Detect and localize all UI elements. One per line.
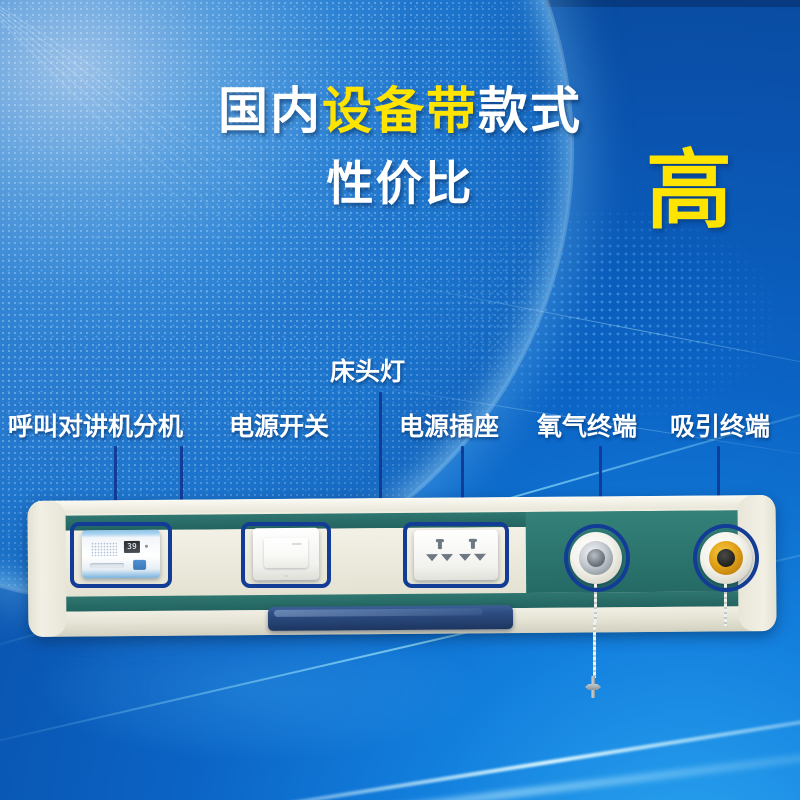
- halftone-map-dots-secondary: [120, 330, 450, 480]
- highlight-circle-suction: [693, 524, 759, 592]
- pull-cord-fitting[interactable]: [585, 676, 601, 698]
- highlight-circle-oxygen: [564, 524, 630, 592]
- callout-oxygen-terminal: 氧气终端: [537, 415, 637, 440]
- headline-accent-character: 高: [646, 148, 732, 234]
- lamp-diffuser-highlight: [274, 608, 483, 617]
- callout-call-intercom-extension: 呼叫对讲机分机: [8, 415, 183, 440]
- highlight-box-power-socket: [403, 522, 509, 588]
- light-rays: [0, 0, 380, 310]
- highlight-box-power-switch: [241, 522, 331, 588]
- highlight-box-intercom: [70, 522, 172, 588]
- callout-power-socket: 电源插座: [399, 415, 499, 440]
- halftone-map-dots: [430, 210, 800, 440]
- callout-bedside-lamp: 床头灯: [330, 360, 405, 385]
- callout-power-switch: 电源开关: [229, 415, 329, 440]
- callout-suction-terminal: 吸引终端: [670, 415, 770, 440]
- bedside-lamp[interactable]: [268, 605, 513, 631]
- pull-cord-extension[interactable]: [593, 622, 596, 678]
- product-banner: 国内设备带款式 性价比 高 呼叫对讲机分机 电源开关 床头灯 电源插座 氧气终端…: [0, 0, 800, 800]
- panel-end-cap-left: [27, 501, 66, 637]
